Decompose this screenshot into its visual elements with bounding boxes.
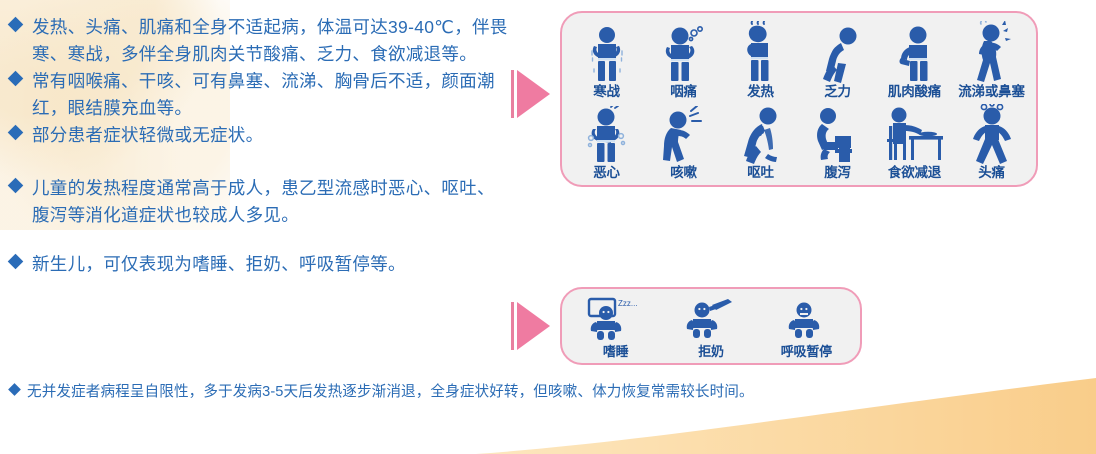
diamond-bullet-icon (8, 19, 25, 30)
person-fever-icon (722, 18, 799, 83)
bullet-paragraph-2: 常有咽喉痛、干咳、可有鼻塞、流涕、胸骨后不适，颜面潮红，眼结膜充血等。 (8, 68, 508, 122)
bullet-paragraph-1: 发热、头痛、肌痛和全身不适起病，体温可达39-40℃，伴畏寒、寒战，多伴全身肌肉… (8, 14, 508, 68)
newborn-icon-grid: Zzz... 嗜睡 (562, 289, 860, 363)
paragraph-text: 新生儿，可仅表现为嗜睡、拒奶、呼吸暂停等。 (32, 251, 508, 278)
diamond-bullet-icon (8, 73, 25, 84)
icon-cell-headache[interactable]: 头痛 (953, 100, 1030, 182)
icon-cell-sore-throat[interactable]: 咽痛 (645, 18, 722, 100)
baby-apnea-icon (759, 292, 854, 343)
icon-caption: 流涕或鼻塞 (958, 84, 1025, 100)
person-muscle-ache-icon (876, 18, 953, 83)
diamond-bullet-icon (8, 127, 25, 138)
icon-cell-nausea[interactable]: 恶心 (568, 100, 645, 182)
icon-cell-vomit[interactable]: 呕吐 (722, 100, 799, 182)
person-vomit-icon (722, 100, 799, 165)
diamond-bullet-icon (8, 256, 25, 267)
icon-cell-fatigue[interactable]: 乏力 (799, 18, 876, 100)
arrow-triangle-icon (517, 70, 550, 118)
person-cough-icon (645, 100, 722, 165)
icon-cell-diarrhea[interactable]: 腹泻 (799, 100, 876, 182)
icon-caption: 发热 (747, 84, 774, 100)
text-content-column: 发热、头痛、肌痛和全身不适起病，体温可达39-40℃，伴畏寒、寒战，多伴全身肌肉… (8, 14, 508, 278)
icon-cell-muscle-ache[interactable]: 肌肉酸痛 (876, 18, 953, 100)
pink-arrow-to-newborn-panel (511, 302, 553, 350)
person-diarrhea-toilet-icon (799, 100, 876, 165)
diamond-bullet-icon (8, 180, 25, 191)
icon-caption: 食欲减退 (888, 165, 941, 181)
baby-sleepy-icon: Zzz... (568, 292, 663, 343)
icon-cell-cough[interactable]: 咳嗽 (645, 100, 722, 182)
icon-caption: 肌肉酸痛 (888, 84, 941, 100)
paragraph-text: 发热、头痛、肌痛和全身不适起病，体温可达39-40℃，伴畏寒、寒战，多伴全身肌肉… (32, 14, 508, 68)
icon-cell-loss-of-appetite[interactable]: 食欲减退 (876, 100, 953, 182)
icon-cell-runny-nose[interactable]: 流涕或鼻塞 (953, 18, 1030, 100)
baby-refuse-feeding-icon (663, 292, 758, 343)
person-fatigue-icon (799, 18, 876, 83)
spacer (8, 149, 508, 175)
arrow-bar (511, 302, 514, 350)
icon-caption: 寒战 (593, 84, 620, 100)
arrow-triangle-icon (517, 302, 550, 350)
arrow-bar (511, 70, 514, 118)
icon-caption: 头痛 (978, 165, 1005, 181)
slide-canvas: 发热、头痛、肌痛和全身不适起病，体温可达39-40℃，伴畏寒、寒战，多伴全身肌肉… (0, 0, 1096, 454)
bottom-note-text: 无并发症者病程呈自限性，多于发病3-5天后发热逐步渐消退，全身症状好转，但咳嗽、… (27, 381, 754, 403)
icon-caption: 呼吸暂停 (781, 344, 832, 360)
person-runny-nose-icon (953, 18, 1030, 83)
icon-caption: 咽痛 (670, 84, 697, 100)
icon-caption: 乏力 (824, 84, 851, 100)
bottom-note-line: 无并发症者病程呈自限性，多于发病3-5天后发热逐步渐消退，全身症状好转，但咳嗽、… (8, 381, 1090, 403)
icon-caption: 呕吐 (747, 165, 774, 181)
icon-cell-refuse-feeding[interactable]: 拒奶 (663, 292, 758, 360)
person-sore-throat-icon (645, 18, 722, 83)
diamond-bullet-icon (8, 385, 23, 394)
icon-caption: 拒奶 (698, 344, 724, 360)
paragraph-text: 常有咽喉痛、干咳、可有鼻塞、流涕、胸骨后不适，颜面潮红，眼结膜充血等。 (32, 68, 508, 122)
pink-arrow-to-symptoms-panel (511, 70, 553, 118)
icon-cell-fever[interactable]: 发热 (722, 18, 799, 100)
icon-caption: 咳嗽 (670, 165, 697, 181)
icon-caption: 腹泻 (824, 165, 851, 181)
paragraph-text: 部分患者症状轻微或无症状。 (32, 122, 508, 149)
symptom-icon-grid: 寒战 咽 (562, 13, 1036, 185)
icon-cell-apnea[interactable]: 呼吸暂停 (759, 292, 854, 360)
bullet-paragraph-3: 部分患者症状轻微或无症状。 (8, 122, 508, 149)
svg-text:Zzz...: Zzz... (618, 299, 638, 308)
icon-cell-sleepy[interactable]: Zzz... 嗜睡 (568, 292, 663, 360)
person-loss-of-appetite-icon (876, 100, 953, 165)
icon-caption: 嗜睡 (603, 344, 629, 360)
spacer (8, 229, 508, 251)
symptom-icon-panel: 寒战 咽 (560, 11, 1038, 187)
paragraph-text: 儿童的发热程度通常高于成人，患乙型流感时恶心、呕吐、腹泻等消化道症状也较成人多见… (32, 175, 508, 229)
icon-cell-shivering[interactable]: 寒战 (568, 18, 645, 100)
bullet-paragraph-4: 儿童的发热程度通常高于成人，患乙型流感时恶心、呕吐、腹泻等消化道症状也较成人多见… (8, 175, 508, 229)
person-nausea-icon (568, 100, 645, 165)
icon-caption: 恶心 (593, 165, 620, 181)
person-shivering-icon (568, 18, 645, 83)
person-headache-icon (953, 100, 1030, 165)
newborn-symptom-icon-panel: Zzz... 嗜睡 (560, 287, 862, 365)
bullet-paragraph-5: 新生儿，可仅表现为嗜睡、拒奶、呼吸暂停等。 (8, 251, 508, 278)
